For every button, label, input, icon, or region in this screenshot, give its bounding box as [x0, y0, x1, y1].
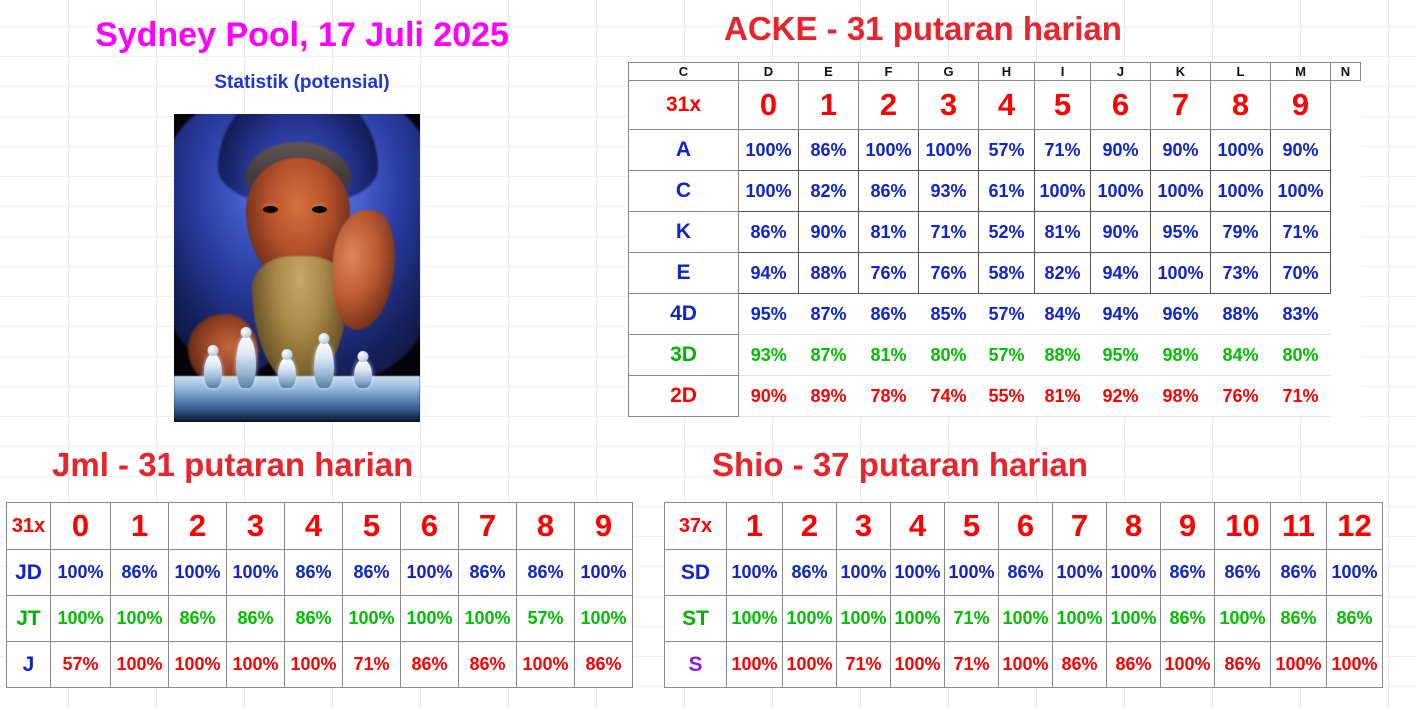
acke-row-4d: 4D95%87%86%85%57%84%94%96%88%83%	[629, 294, 1361, 335]
shio-row-s: S100%100%71%100%71%100%86%86%100%86%100%…	[665, 642, 1383, 688]
jml-row-label-jd: JD	[7, 550, 51, 596]
acke-cell-a-1: 86%	[799, 130, 859, 171]
acke-cell-a-8: 100%	[1211, 130, 1271, 171]
acke-cell-4d-5: 84%	[1035, 294, 1091, 335]
jml-cell-jd-3: 100%	[227, 550, 285, 596]
shio-cell-sd-8: 100%	[1107, 550, 1161, 596]
acke-cell-e-4: 58%	[979, 253, 1035, 294]
acke-cell-k-9: 71%	[1271, 212, 1331, 253]
acke-column-header-6: 6	[1091, 81, 1151, 130]
jml-row-j: J57%100%100%100%100%71%86%86%100%86%	[7, 642, 633, 688]
shio-cell-s-7: 86%	[1053, 642, 1107, 688]
acke-sheet-column-E[interactable]: E	[799, 63, 859, 81]
acke-sheet-column-F[interactable]: F	[859, 63, 919, 81]
shio-column-header-9: 9	[1161, 503, 1215, 550]
acke-cell-k-4: 52%	[979, 212, 1035, 253]
acke-table: CDEFGHIJKLMN 31x0123456789 A100%86%100%1…	[628, 62, 1361, 417]
jml-row-label-jt: JT	[7, 596, 51, 642]
acke-cell-k-3: 71%	[919, 212, 979, 253]
jml-row-label-j: J	[7, 642, 51, 688]
shio-cell-sd-10: 86%	[1215, 550, 1271, 596]
shio-row-label-s: S	[665, 642, 727, 688]
jml-column-header-5: 5	[343, 503, 401, 550]
shio-cell-s-6: 100%	[999, 642, 1053, 688]
acke-column-header-9: 9	[1271, 81, 1331, 130]
shio-column-header-12: 12	[1327, 503, 1383, 550]
shio-column-header-6: 6	[999, 503, 1053, 550]
jml-cell-jt-1: 100%	[111, 596, 169, 642]
acke-cell-c-1: 82%	[799, 171, 859, 212]
acke-row-2d: 2D90%89%78%74%55%81%92%98%76%71%	[629, 376, 1361, 417]
jml-cell-jd-8: 86%	[517, 550, 575, 596]
acke-cell-c-6: 100%	[1091, 171, 1151, 212]
acke-cell-3d-5: 88%	[1035, 335, 1091, 376]
acke-row-label-a: A	[629, 130, 739, 171]
jml-cell-jt-8: 57%	[517, 596, 575, 642]
jml-cell-jt-6: 100%	[401, 596, 459, 642]
acke-cell-a-6: 90%	[1091, 130, 1151, 171]
shio-cell-sd-9: 86%	[1161, 550, 1215, 596]
jml-table-title: Jml - 31 putaran harian	[52, 446, 413, 484]
acke-column-header-5: 5	[1035, 81, 1091, 130]
jml-cell-jt-5: 100%	[343, 596, 401, 642]
acke-cell-3d-9: 80%	[1271, 335, 1331, 376]
shio-cell-st-11: 86%	[1271, 596, 1327, 642]
jml-cell-jt-2: 86%	[169, 596, 227, 642]
acke-row-pad	[1331, 376, 1361, 417]
acke-column-header-1: 1	[799, 81, 859, 130]
jml-cell-jd-5: 86%	[343, 550, 401, 596]
acke-table-title: ACKE - 31 putaran harian	[724, 10, 1122, 48]
shio-column-header-8: 8	[1107, 503, 1161, 550]
shio-column-header-3: 3	[837, 503, 891, 550]
jml-column-header-2: 2	[169, 503, 227, 550]
acke-cell-4d-2: 86%	[859, 294, 919, 335]
acke-cell-4d-0: 95%	[739, 294, 799, 335]
page-title: Sydney Pool, 17 Juli 2025	[42, 16, 562, 55]
acke-column-header-7: 7	[1151, 81, 1211, 130]
shio-cell-s-10: 86%	[1215, 642, 1271, 688]
acke-sheet-column-L[interactable]: L	[1211, 63, 1271, 81]
acke-cell-a-2: 100%	[859, 130, 919, 171]
shio-cell-s-8: 86%	[1107, 642, 1161, 688]
jml-cell-j-5: 71%	[343, 642, 401, 688]
jml-column-header-4: 4	[285, 503, 343, 550]
acke-sheet-column-H[interactable]: H	[979, 63, 1035, 81]
jml-column-header-8: 8	[517, 503, 575, 550]
shio-cell-sd-11: 86%	[1271, 550, 1327, 596]
acke-row-pad	[1331, 335, 1361, 376]
acke-row-label-e: E	[629, 253, 739, 294]
acke-cell-c-7: 100%	[1151, 171, 1211, 212]
jml-cell-jd-9: 100%	[575, 550, 633, 596]
acke-row-label-3d: 3D	[629, 335, 739, 376]
acke-header-row: 31x0123456789	[629, 81, 1361, 130]
acke-cell-4d-3: 85%	[919, 294, 979, 335]
acke-cell-2d-9: 71%	[1271, 376, 1331, 417]
shio-cell-s-9: 100%	[1161, 642, 1215, 688]
acke-sheet-column-K[interactable]: K	[1151, 63, 1211, 81]
shio-cell-s-3: 71%	[837, 642, 891, 688]
acke-cell-c-8: 100%	[1211, 171, 1271, 212]
acke-row-pad	[1331, 294, 1361, 335]
shio-column-header-2: 2	[783, 503, 837, 550]
shio-row-sd: SD100%86%100%100%100%86%100%100%86%86%86…	[665, 550, 1383, 596]
acke-column-header-4: 4	[979, 81, 1035, 130]
acke-cell-c-0: 100%	[739, 171, 799, 212]
acke-row-pad	[1331, 212, 1361, 253]
shio-body: SD100%86%100%100%100%86%100%100%86%86%86…	[665, 550, 1383, 688]
acke-cell-k-8: 79%	[1211, 212, 1271, 253]
shio-corner-label: 37x	[665, 503, 727, 550]
shio-cell-st-4: 100%	[891, 596, 945, 642]
acke-cell-2d-6: 92%	[1091, 376, 1151, 417]
acke-column-header-8: 8	[1211, 81, 1271, 130]
shio-table-title: Shio - 37 putaran harian	[712, 446, 1088, 484]
jml-cell-jt-9: 100%	[575, 596, 633, 642]
jml-column-header-1: 1	[111, 503, 169, 550]
acke-cell-k-0: 86%	[739, 212, 799, 253]
shio-cell-sd-5: 100%	[945, 550, 999, 596]
acke-cell-e-7: 100%	[1151, 253, 1211, 294]
acke-row-3d: 3D93%87%81%80%57%88%95%98%84%80%	[629, 335, 1361, 376]
acke-cell-2d-2: 78%	[859, 376, 919, 417]
acke-cell-3d-0: 93%	[739, 335, 799, 376]
shio-cell-st-3: 100%	[837, 596, 891, 642]
shio-cell-st-6: 100%	[999, 596, 1053, 642]
jml-column-header-7: 7	[459, 503, 517, 550]
acke-column-header-3: 3	[919, 81, 979, 130]
jml-row-jt: JT100%100%86%86%86%100%100%100%57%100%	[7, 596, 633, 642]
acke-cell-k-1: 90%	[799, 212, 859, 253]
shio-cell-st-5: 71%	[945, 596, 999, 642]
acke-cell-4d-8: 88%	[1211, 294, 1271, 335]
acke-cell-k-6: 90%	[1091, 212, 1151, 253]
shio-cell-s-1: 100%	[727, 642, 783, 688]
page-subtitle: Statistik (potensial)	[42, 72, 562, 94]
acke-cell-4d-9: 83%	[1271, 294, 1331, 335]
jml-column-header-6: 6	[401, 503, 459, 550]
jml-cell-j-8: 100%	[517, 642, 575, 688]
acke-sheet-column-G[interactable]: G	[919, 63, 979, 81]
shio-cell-sd-1: 100%	[727, 550, 783, 596]
acke-cell-a-3: 100%	[919, 130, 979, 171]
shio-cell-s-12: 100%	[1327, 642, 1383, 688]
shio-table: 37x123456789101112 SD100%86%100%100%100%…	[664, 502, 1383, 688]
shio-cell-st-8: 100%	[1107, 596, 1161, 642]
shio-row-label-sd: SD	[665, 550, 727, 596]
shio-column-header-10: 10	[1215, 503, 1271, 550]
jml-table-wrapper: 31x0123456789 JD100%86%100%100%86%86%100…	[6, 502, 633, 688]
shio-cell-st-7: 100%	[1053, 596, 1107, 642]
shio-cell-st-12: 86%	[1327, 596, 1383, 642]
jml-header-row: 31x0123456789	[7, 503, 633, 550]
shio-cell-st-10: 100%	[1215, 596, 1271, 642]
shio-cell-s-2: 100%	[783, 642, 837, 688]
acke-row-c: C100%82%86%93%61%100%100%100%100%100%	[629, 171, 1361, 212]
jml-cell-jd-7: 86%	[459, 550, 517, 596]
jml-body: JD100%86%100%100%86%86%100%86%86%100%JT1…	[7, 550, 633, 688]
acke-sheet-column-J[interactable]: J	[1091, 63, 1151, 81]
acke-cell-e-1: 88%	[799, 253, 859, 294]
acke-cell-e-0: 94%	[739, 253, 799, 294]
jml-cell-jd-6: 100%	[401, 550, 459, 596]
acke-cell-2d-5: 81%	[1035, 376, 1091, 417]
jml-cell-jd-2: 100%	[169, 550, 227, 596]
shio-cell-s-5: 71%	[945, 642, 999, 688]
shio-cell-st-2: 100%	[783, 596, 837, 642]
acke-cell-2d-4: 55%	[979, 376, 1035, 417]
jml-column-header-0: 0	[51, 503, 111, 550]
acke-row-pad	[1331, 130, 1361, 171]
acke-cell-a-4: 57%	[979, 130, 1035, 171]
acke-row-a: A100%86%100%100%57%71%90%90%100%90%	[629, 130, 1361, 171]
shio-column-header-11: 11	[1271, 503, 1327, 550]
acke-cell-a-0: 100%	[739, 130, 799, 171]
acke-cell-k-5: 81%	[1035, 212, 1091, 253]
acke-sheet-column-C[interactable]: C	[629, 63, 739, 81]
shio-column-header-1: 1	[727, 503, 783, 550]
acke-cell-e-5: 82%	[1035, 253, 1091, 294]
jml-cell-j-7: 86%	[459, 642, 517, 688]
acke-body: A100%86%100%100%57%71%90%90%100%90%C100%…	[629, 130, 1361, 417]
shio-cell-st-9: 86%	[1161, 596, 1215, 642]
acke-row-pad	[1331, 171, 1361, 212]
jml-corner-label: 31x	[7, 503, 51, 550]
acke-cell-c-2: 86%	[859, 171, 919, 212]
acke-cell-e-2: 76%	[859, 253, 919, 294]
acke-cell-c-9: 100%	[1271, 171, 1331, 212]
acke-cell-3d-2: 81%	[859, 335, 919, 376]
acke-cell-2d-3: 74%	[919, 376, 979, 417]
acke-row-k: K86%90%81%71%52%81%90%95%79%71%	[629, 212, 1361, 253]
acke-cell-e-3: 76%	[919, 253, 979, 294]
jml-cell-j-9: 86%	[575, 642, 633, 688]
acke-row-label-2d: 2D	[629, 376, 739, 417]
acke-row-e: E94%88%76%76%58%82%94%100%73%70%	[629, 253, 1361, 294]
shio-cell-s-4: 100%	[891, 642, 945, 688]
jml-cell-jt-4: 86%	[285, 596, 343, 642]
acke-sheet-column-N[interactable]: N	[1331, 63, 1361, 81]
jml-column-header-9: 9	[575, 503, 633, 550]
shio-column-header-4: 4	[891, 503, 945, 550]
acke-cell-k-7: 95%	[1151, 212, 1211, 253]
shio-header-row: 37x123456789101112	[665, 503, 1383, 550]
acke-cell-3d-8: 84%	[1211, 335, 1271, 376]
acke-cell-4d-7: 96%	[1151, 294, 1211, 335]
jml-cell-jt-3: 86%	[227, 596, 285, 642]
shio-cell-sd-7: 100%	[1053, 550, 1107, 596]
acke-cell-c-3: 93%	[919, 171, 979, 212]
acke-header-pad	[1331, 81, 1361, 130]
acke-cell-3d-6: 95%	[1091, 335, 1151, 376]
jml-cell-j-3: 100%	[227, 642, 285, 688]
acke-cell-a-5: 71%	[1035, 130, 1091, 171]
acke-cell-e-6: 94%	[1091, 253, 1151, 294]
acke-cell-2d-0: 90%	[739, 376, 799, 417]
acke-cell-c-5: 100%	[1035, 171, 1091, 212]
acke-cell-e-9: 70%	[1271, 253, 1331, 294]
acke-cell-3d-7: 98%	[1151, 335, 1211, 376]
acke-cell-4d-6: 94%	[1091, 294, 1151, 335]
shio-row-st: ST100%100%100%100%71%100%100%100%86%100%…	[665, 596, 1383, 642]
acke-cell-2d-7: 98%	[1151, 376, 1211, 417]
shio-cell-s-11: 100%	[1271, 642, 1327, 688]
acke-cell-3d-1: 87%	[799, 335, 859, 376]
jml-cell-jd-0: 100%	[51, 550, 111, 596]
shio-column-header-5: 5	[945, 503, 999, 550]
jml-cell-j-0: 57%	[51, 642, 111, 688]
jml-cell-jt-0: 100%	[51, 596, 111, 642]
wizard-chess-photo	[174, 114, 420, 422]
acke-table-wrapper: CDEFGHIJKLMN 31x0123456789 A100%86%100%1…	[628, 62, 1361, 417]
jml-cell-j-6: 86%	[401, 642, 459, 688]
acke-cell-4d-1: 87%	[799, 294, 859, 335]
jml-cell-j-4: 100%	[285, 642, 343, 688]
acke-cell-a-7: 90%	[1151, 130, 1211, 171]
acke-column-header-2: 2	[859, 81, 919, 130]
shio-cell-sd-2: 86%	[783, 550, 837, 596]
acke-cell-3d-4: 57%	[979, 335, 1035, 376]
acke-sheet-column-M[interactable]: M	[1271, 63, 1331, 81]
acke-row-label-4d: 4D	[629, 294, 739, 335]
acke-cell-2d-1: 89%	[799, 376, 859, 417]
jml-cell-j-2: 100%	[169, 642, 227, 688]
jml-table: 31x0123456789 JD100%86%100%100%86%86%100…	[6, 502, 633, 688]
jml-cell-j-1: 100%	[111, 642, 169, 688]
shio-cell-st-1: 100%	[727, 596, 783, 642]
jml-cell-jt-7: 100%	[459, 596, 517, 642]
shio-row-label-st: ST	[665, 596, 727, 642]
acke-sheet-column-D[interactable]: D	[739, 63, 799, 81]
shio-cell-sd-4: 100%	[891, 550, 945, 596]
acke-column-letter-row: CDEFGHIJKLMN	[629, 63, 1361, 81]
acke-sheet-column-I[interactable]: I	[1035, 63, 1091, 81]
jml-column-header-3: 3	[227, 503, 285, 550]
shio-column-header-7: 7	[1053, 503, 1107, 550]
jml-row-jd: JD100%86%100%100%86%86%100%86%86%100%	[7, 550, 633, 596]
acke-cell-e-8: 73%	[1211, 253, 1271, 294]
acke-corner-label: 31x	[629, 81, 739, 130]
shio-table-wrapper: 37x123456789101112 SD100%86%100%100%100%…	[664, 502, 1383, 688]
acke-cell-2d-8: 76%	[1211, 376, 1271, 417]
acke-row-pad	[1331, 253, 1361, 294]
acke-cell-k-2: 81%	[859, 212, 919, 253]
shio-cell-sd-3: 100%	[837, 550, 891, 596]
jml-cell-jd-1: 86%	[111, 550, 169, 596]
acke-cell-a-9: 90%	[1271, 130, 1331, 171]
acke-column-header-0: 0	[739, 81, 799, 130]
acke-cell-c-4: 61%	[979, 171, 1035, 212]
shio-cell-sd-12: 100%	[1327, 550, 1383, 596]
acke-cell-3d-3: 80%	[919, 335, 979, 376]
jml-cell-jd-4: 86%	[285, 550, 343, 596]
acke-row-label-c: C	[629, 171, 739, 212]
acke-cell-4d-4: 57%	[979, 294, 1035, 335]
shio-cell-sd-6: 86%	[999, 550, 1053, 596]
acke-row-label-k: K	[629, 212, 739, 253]
